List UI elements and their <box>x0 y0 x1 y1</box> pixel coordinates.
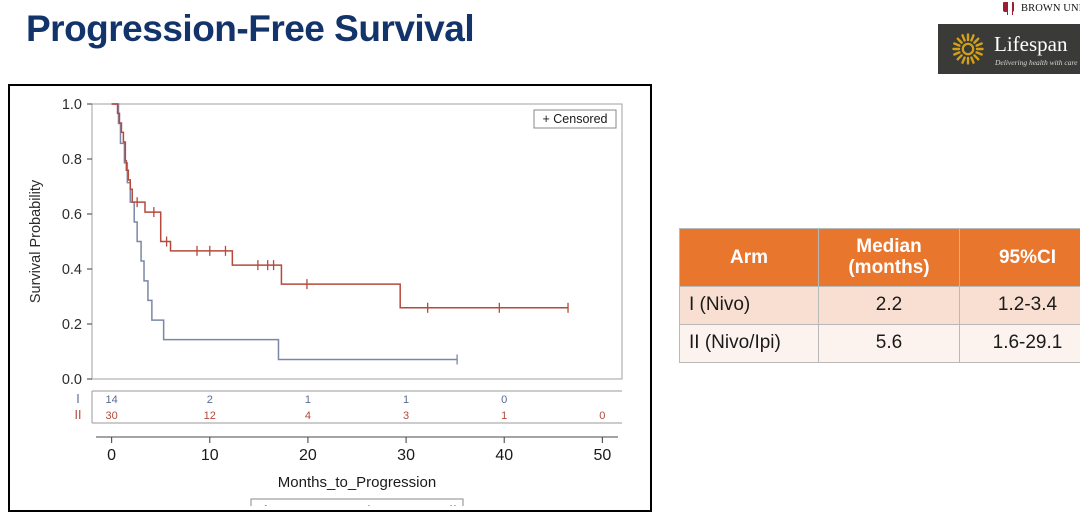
x-tick-label: 20 <box>299 447 317 464</box>
cell-ci-2: 1.6-29.1 <box>960 324 1080 362</box>
risk-row-label: I <box>76 392 79 406</box>
brown-university-label: BROWN UNIVERSITY <box>1021 3 1080 14</box>
cell-median-1: 2.2 <box>819 286 960 324</box>
risk-count: 1 <box>403 394 409 406</box>
lifespan-logo: Lifespan Delivering health with care <box>938 24 1080 74</box>
legend-title: Arm <box>261 502 287 506</box>
legend-label-II: II <box>449 502 457 506</box>
risk-count: 12 <box>204 410 216 422</box>
censored-note-label: + Censored <box>543 112 608 126</box>
risk-row-label: II <box>75 408 82 422</box>
risk-count: 3 <box>403 410 409 422</box>
survival-curve-II <box>112 104 568 308</box>
brown-shield-icon <box>1003 2 1016 15</box>
brown-university-logo: BROWN UNIVERSITY <box>1003 2 1080 15</box>
x-tick-label: 0 <box>107 447 116 464</box>
kaplan-meier-plot: 0.00.20.40.60.81.0Survival ProbabilityI1… <box>14 90 646 506</box>
median-survival-table: Arm Median (months) 95%CI I (Nivo) 2.2 1… <box>679 228 1080 363</box>
risk-count: 1 <box>305 394 311 406</box>
cell-median-2: 5.6 <box>819 324 960 362</box>
header-arm: Arm <box>680 229 819 287</box>
survival-chart-panel: 0.00.20.40.60.81.0Survival ProbabilityI1… <box>8 84 652 512</box>
risk-count: 2 <box>207 394 213 406</box>
cell-ci-1: 1.2-3.4 <box>960 286 1080 324</box>
chart-canvas: 0.00.20.40.60.81.0Survival ProbabilityI1… <box>14 90 646 506</box>
y-tick-label: 0.8 <box>62 152 82 168</box>
survival-curve-I <box>112 104 457 359</box>
risk-count: 14 <box>106 394 118 406</box>
x-tick-label: 50 <box>593 447 611 464</box>
lifespan-label: Lifespan <box>994 32 1067 57</box>
risk-count: 0 <box>501 394 507 406</box>
header-median-line2: (months) <box>848 257 929 278</box>
table-row: II (Nivo/Ipi) 5.6 1.6-29.1 <box>680 324 1080 362</box>
x-tick-label: 10 <box>201 447 219 464</box>
y-axis-title: Survival Probability <box>28 179 44 303</box>
legend-label-I: I <box>367 502 371 506</box>
risk-count: 30 <box>106 410 118 422</box>
risk-count: 1 <box>501 410 507 422</box>
plot-frame <box>92 104 622 379</box>
risk-count: 4 <box>305 410 311 422</box>
x-tick-label: 30 <box>397 447 415 464</box>
sun-burst-icon <box>952 33 984 65</box>
risk-count: 0 <box>599 410 605 422</box>
y-tick-label: 1.0 <box>62 97 82 113</box>
y-tick-label: 0.2 <box>62 317 82 333</box>
y-tick-label: 0.4 <box>62 262 82 278</box>
cell-arm-1: I (Nivo) <box>680 286 819 324</box>
cell-arm-2: II (Nivo/Ipi) <box>680 324 819 362</box>
header-ci: 95%CI <box>960 229 1080 287</box>
table-header-row: Arm Median (months) 95%CI <box>680 229 1080 287</box>
y-tick-label: 0.6 <box>62 207 82 223</box>
lifespan-tagline: Delivering health with care <box>995 58 1077 67</box>
header-median-line1: Median <box>856 236 921 257</box>
page-title: Progression-Free Survival <box>26 8 474 50</box>
y-tick-label: 0.0 <box>62 372 82 388</box>
table-row: I (Nivo) 2.2 1.2-3.4 <box>680 286 1080 324</box>
header-median: Median (months) <box>819 229 960 287</box>
x-axis-title: Months_to_Progression <box>278 474 436 491</box>
x-tick-label: 40 <box>495 447 513 464</box>
